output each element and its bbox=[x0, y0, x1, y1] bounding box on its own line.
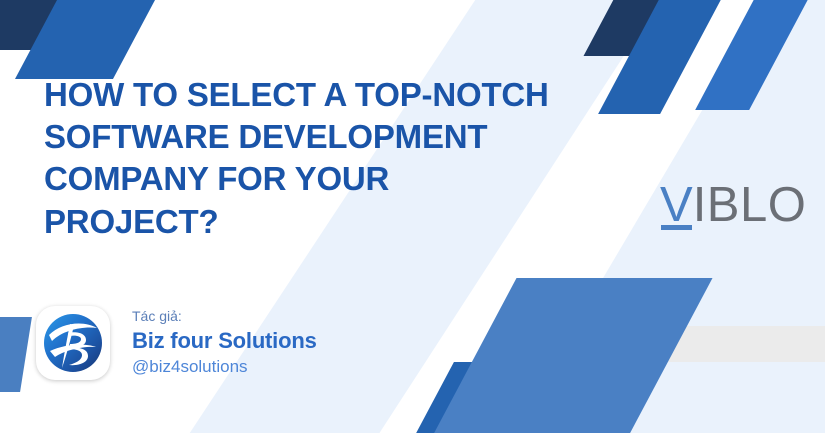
author-handle[interactable]: @biz4solutions bbox=[132, 356, 317, 378]
avatar bbox=[36, 306, 110, 380]
viblo-logo-wordmark: IBLO bbox=[693, 181, 807, 230]
author-text-block: Tác giả: Biz four Solutions @biz4solutio… bbox=[132, 308, 317, 377]
viblo-logo: V IBLO bbox=[660, 181, 806, 230]
viblo-logo-v-mark: V bbox=[660, 181, 693, 230]
page-title: How to select a top-notch software devel… bbox=[44, 74, 564, 243]
social-share-banner: How to select a top-notch software devel… bbox=[0, 0, 825, 433]
biz4solutions-b-logo-icon bbox=[43, 313, 103, 373]
author-label: Tác giả: bbox=[132, 308, 317, 326]
viblo-logo-underline-icon bbox=[661, 225, 692, 230]
author-name[interactable]: Biz four Solutions bbox=[132, 328, 317, 355]
author-block: Tác giả: Biz four Solutions @biz4solutio… bbox=[36, 306, 317, 380]
viblo-logo-v-letter: V bbox=[660, 178, 693, 232]
